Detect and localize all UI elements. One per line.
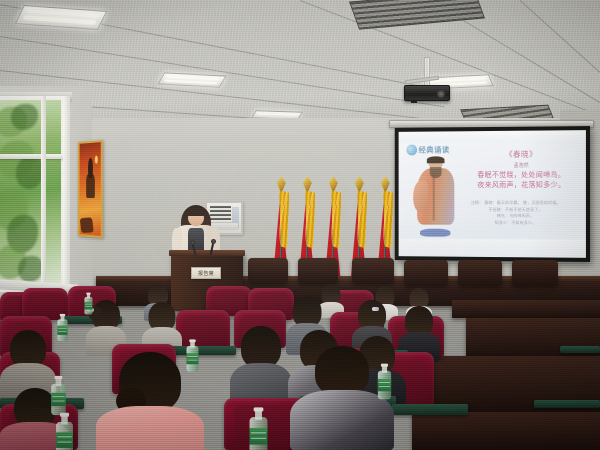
window-mullion-vertical [41,96,46,292]
projector-foot [411,100,417,103]
podium-nameplate-text: 报告席 [198,270,214,277]
presenter-bangs [186,209,205,216]
slide-notes-block: 注释： 春晓：春天的早晨。 晓，天刚亮的时候。 不觉晓：不知不觉天就亮了。 啼鸟… [454,200,578,227]
microphone-icon [211,239,216,244]
projection-screen: 经典诵读 《春晓》 孟浩然 春眠不觉晓，处处闻啼鸟。 夜来风雨声，花落知多少。 [395,126,590,262]
stage-chair [512,260,558,286]
scholar-hair [427,156,445,163]
scholar-shoes [420,228,451,237]
flag-finial-icon [355,176,364,191]
scholar-sleeve [413,181,427,212]
desk-ledge [560,346,600,353]
slide-top-band [399,130,586,143]
water-bottle [51,376,66,415]
poster-emblem-icon [95,155,98,164]
slide-scholar-illustration [411,158,459,236]
audience-member [230,326,292,408]
slide-decor-swirl-icon [406,144,417,155]
projector-mount-pole [424,57,430,87]
flag-finial-icon [329,176,338,191]
water-bottle [187,339,199,371]
flag-finial-icon [381,176,390,191]
person-body [96,406,204,450]
microphone-icon [190,240,195,245]
podium-top-surface [169,250,245,256]
poem-title: 《春晓》 [465,148,578,160]
stage-chair [352,258,394,284]
water-bottle [84,293,92,315]
slide-note-line: 知多少：不知有多少。 [454,220,578,227]
conference-room-photo: 经典诵读 《春晓》 孟浩然 春眠不觉晓，处处闻啼鸟。 夜来风雨声，花落知多少。 [0,0,600,450]
window-frame-edge [63,96,70,292]
poem-line: 春眠不觉晓，处处闻啼鸟。 [465,170,578,180]
scholar-robe-fold [432,173,434,221]
flag-finial-icon [277,176,286,191]
scholar-beard [430,167,442,178]
audience-desk-right [412,412,600,450]
window [0,96,70,292]
ceiling-projector [404,85,450,101]
slide-title: 经典诵读 [419,144,450,155]
person-head [315,346,369,396]
water-bottle [56,413,73,450]
flag-finial-icon [303,176,312,191]
audience-desk-right [452,300,600,318]
person-head [241,326,281,368]
poster-foreground-shape [80,217,94,232]
audience-seat [176,310,230,350]
projector-lens-icon [437,90,445,98]
slide-bottom-band [399,239,586,258]
projected-slide: 经典诵读 《春晓》 孟浩然 春眠不觉晓，处处闻啼鸟。 夜来风雨声，花落知多少。 [399,130,586,258]
wall-poster [78,140,103,238]
desk-ledge [534,400,600,408]
window-glass [0,100,61,286]
poem-author: 孟浩然 [465,161,578,169]
desk-ledge [392,404,468,415]
hair-clip [372,307,379,311]
slide-title-badge: 经典诵读 [406,144,450,155]
poster-figure-body [86,174,94,198]
slide-poem-block: 《春晓》 孟浩然 春眠不觉晓，处处闻啼鸟。 夜来风雨声，花落知多少。 [465,148,578,190]
stage-chair [404,260,448,286]
water-bottle [57,314,67,341]
stage-chair [458,260,502,286]
stage-chair [248,258,288,284]
water-bottle [250,407,268,450]
stage-chair [298,258,338,284]
podium-nameplate: 报告席 [191,267,221,279]
water-bottle [378,364,391,400]
window-mullion-horizontal [0,154,67,159]
poem-line: 夜来风雨声，花落知多少。 [465,180,578,190]
